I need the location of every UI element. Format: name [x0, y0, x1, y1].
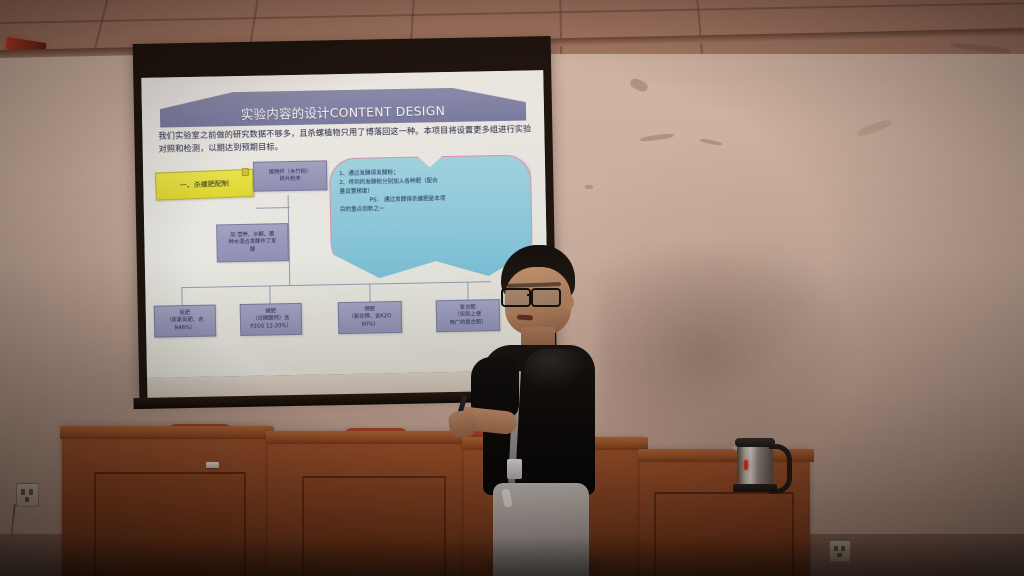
- kettle-lid[interactable]: [735, 438, 775, 447]
- slide-title-band: 实验内容的设计CONTENT DESIGN: [160, 87, 527, 128]
- wall-outlet-right[interactable]: [829, 540, 851, 562]
- flow-box-line: （尿素氮肥、含N46%）: [158, 317, 212, 332]
- kettle-indicator-light: [744, 460, 748, 470]
- desk-panel: [654, 492, 794, 576]
- flow-box-line: （氯化钾、含K2O 60%）: [342, 313, 398, 328]
- presenter-shoulder-highlight: [525, 349, 587, 389]
- pin-icon: [242, 168, 249, 176]
- electric-kettle: [731, 436, 789, 492]
- glasses-icon: [501, 288, 569, 303]
- outlet-slot: [25, 497, 29, 502]
- slide-section-label: 一、杀螺肥配制: [155, 169, 254, 201]
- flow-connector: [256, 207, 290, 209]
- outlet-slot: [29, 489, 33, 495]
- flow-box-line: P2O5 12-20%）: [250, 323, 292, 331]
- presenter-hand: [447, 409, 476, 438]
- flow-connector: [181, 281, 491, 288]
- flow-box-middle: 加 营养、水解、菌 种水混合发酵作了发 酵: [216, 223, 289, 262]
- flow-box-line: 酵: [250, 246, 255, 253]
- presenter-mouth: [517, 314, 533, 320]
- flow-box-phosphorus: 磷肥 （过磷酸钙）含 P2O5 12-20%）: [240, 303, 303, 336]
- slide-title: 实验内容的设计CONTENT DESIGN: [241, 100, 446, 123]
- desk-panel: [302, 476, 446, 576]
- desk-left: [62, 428, 272, 576]
- desk-middle: [268, 434, 468, 576]
- glasses-lens-right: [531, 288, 561, 307]
- desk-top: [266, 431, 472, 444]
- glasses-lens-left: [501, 288, 531, 307]
- presenter: [455, 245, 630, 576]
- wall-mark: [585, 185, 593, 189]
- slide-section-label-text: 一、杀螺肥配制: [180, 179, 229, 191]
- photo-scene: 实验内容的设计CONTENT DESIGN 我们实验室之前做的研究数据不够多，且…: [0, 0, 1024, 576]
- flow-connector: [181, 287, 182, 305]
- flow-box-top: 植物纤（木竹粉） 碎片粉末: [253, 160, 328, 191]
- kettle-base: [733, 484, 777, 492]
- whiteboard-eraser: [206, 462, 219, 468]
- flow-box-nitrogen: 氮肥 （尿素氮肥、含N46%）: [154, 304, 217, 337]
- outlet-slot: [837, 553, 842, 557]
- kettle-body: [737, 444, 773, 488]
- flow-connector: [369, 284, 370, 302]
- outlet-slot: [21, 489, 25, 495]
- flow-box-line: 碎片粉末: [280, 176, 301, 184]
- desk-panel: [94, 472, 246, 576]
- wall-outlet-left[interactable]: [16, 483, 39, 507]
- flow-box-potassium: 钾肥 （氯化钾、含K2O 60%）: [338, 301, 403, 334]
- desk-top: [60, 426, 274, 439]
- slide-callout-text: 1、通过发酵得发酵粉； 2、得到的发酵粉分别加入各种肥（配合 量设置梯度） PS…: [339, 167, 522, 215]
- outlet-slot: [841, 546, 845, 551]
- ceiling-tile-line: [0, 2, 1024, 23]
- outlet-slot: [834, 546, 838, 551]
- lanyard-badge: [507, 459, 522, 479]
- slide-body-text: 我们实验室之前做的研究数据不够多，且杀螺植物只用了博落回这一种。本项目将设置更多…: [158, 122, 532, 155]
- flow-connector: [269, 285, 270, 303]
